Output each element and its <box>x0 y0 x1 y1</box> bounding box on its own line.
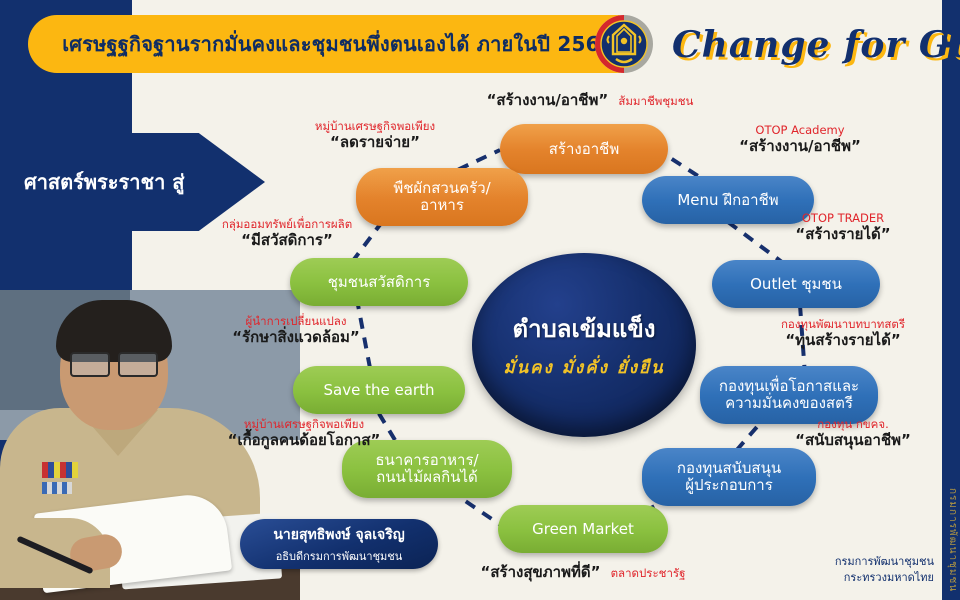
node-label: กองทุนสนับสนุนผู้ประกอบการ <box>677 460 781 494</box>
annotation-kongthun-sanubsanun: กองทุน กขคจ. “สนับสนุนอาชีพ” <box>760 418 946 449</box>
annotation-chumchon-sawatdikan: กลุ่มออมทรัพย์เพื่อการผลิต “มีสวัสดิการ” <box>182 218 392 249</box>
annotation-quote: “ทุนสร้างรายได้” <box>740 331 946 349</box>
node-save-the-earth[interactable]: Save the earth <box>293 366 465 414</box>
annotation-quote: “เกื้อกูลคนด้อยโอกาส” <box>196 431 412 449</box>
annotation-program: กองทุน กขคจ. <box>760 418 946 431</box>
annotation-program: หมู่บ้านเศรษฐกิจพอเพียง <box>280 120 470 133</box>
annotation-quote: “สร้างงาน/อาชีพ” <box>700 137 900 155</box>
node-label: สร้างอาชีพ <box>549 141 619 158</box>
annotation-program: กองทุนพัฒนาบทบาทสตรี <box>740 318 946 331</box>
annotation-outlet-chumchon: OTOP TRADER “สร้างรายได้” <box>748 212 938 243</box>
annotation-save-the-earth: ผู้นำการเปลี่ยนแปลง “รักษาสิ่งแวดล้อม” <box>196 315 396 346</box>
node-outlet-chumchon[interactable]: Outlet ชุมชน <box>712 260 880 308</box>
node-green-market[interactable]: Green Market <box>498 505 668 553</box>
organization-credit: กรมการพัฒนาชุมชน กระทรวงมหาดไทย <box>835 554 934 586</box>
node-sang-achip[interactable]: สร้างอาชีพ <box>500 124 668 174</box>
node-chumchon-sawatdikan[interactable]: ชุมชนสวัสดิการ <box>290 258 468 306</box>
annotation-sang-achip: “สร้างงาน/อาชีพ” ส้มมาชีพชุมชน <box>460 90 720 109</box>
annotation-quote: “สร้างสุขภาพที่ดี” <box>481 563 601 581</box>
annotation-quote: “สร้างรายได้” <box>748 225 938 243</box>
node-label: Green Market <box>532 521 634 538</box>
annotation-quote: “ลดรายจ่าย” <box>280 133 470 151</box>
node-kongthun-okat-satri[interactable]: กองทุนเพื่อโอกาสและความมั่นคงของสตรี <box>700 366 878 424</box>
annotation-kongthun-okat-satri: กองทุนพัฒนาบทบาทสตรี “ทุนสร้างรายได้” <box>740 318 946 349</box>
node-label: ธนาคารอาหาร/ถนนไม้ผลกินได้ <box>375 452 478 486</box>
annotation-program: OTOP TRADER <box>748 212 938 225</box>
annotation-program: ผู้นำการเปลี่ยนแปลง <box>196 315 396 328</box>
node-label: Outlet ชุมชน <box>750 276 842 293</box>
node-kongthun-sanubsanun[interactable]: กองทุนสนับสนุนผู้ประกอบการ <box>642 448 816 506</box>
annotation-menu-fuek-achip: OTOP Academy “สร้างงาน/อาชีพ” <box>700 124 900 155</box>
annotation-quote: “สร้างงาน/อาชีพ” <box>487 91 609 109</box>
annotation-quote: “รักษาสิ่งแวดล้อม” <box>196 328 396 346</box>
annotation-program: หมู่บ้านเศรษฐกิจพอเพียง <box>196 418 412 431</box>
node-label: กองทุนเพื่อโอกาสและความมั่นคงของสตรี <box>719 378 859 412</box>
annotation-thanakarn-ahan: หมู่บ้านเศรษฐกิจพอเพียง “เกื้อกูลคนด้อยโ… <box>196 418 412 449</box>
node-label: Save the earth <box>324 382 435 399</box>
annotation-green-market: “สร้างสุขภาพที่ดี” ตลาดประชารัฐ <box>458 562 708 581</box>
annotation-program: กลุ่มออมทรัพย์เพื่อการผลิต <box>182 218 392 231</box>
annotation-quote: “สนับสนุนอาชีพ” <box>760 431 946 449</box>
annotation-quote: “มีสวัสดิการ” <box>182 231 392 249</box>
node-label: พืชผักสวนครัว/อาหาร <box>393 180 490 214</box>
credit-line-1: กรมการพัฒนาชุมชน <box>835 554 934 570</box>
annotation-program: OTOP Academy <box>700 124 900 137</box>
infographic-canvas: กรมการพัฒนาชุมชน เศรษฐฐกิจฐานรากมั่นคงแล… <box>0 0 960 600</box>
credit-line-2: กระทรวงมหาดไทย <box>835 570 934 586</box>
node-label: ชุมชนสวัสดิการ <box>328 274 431 291</box>
node-label: Menu ฝึกอาชีพ <box>677 192 778 209</box>
annotation-program: ตลาดประชารัฐ <box>611 566 686 580</box>
annotation-program: ส้มมาชีพชุมชน <box>618 94 693 108</box>
annotation-puech-phak: หมู่บ้านเศรษฐกิจพอเพียง “ลดรายจ่าย” <box>280 120 470 151</box>
